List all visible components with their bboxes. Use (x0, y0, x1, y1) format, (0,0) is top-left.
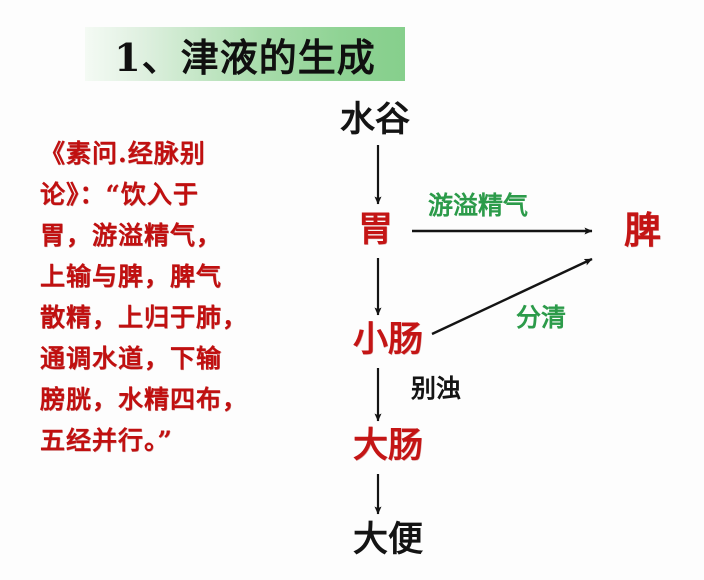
node-dabian: 大便 (353, 522, 423, 557)
quote-line: 五经并行。” (40, 420, 306, 461)
slide-canvas: 1、津液的生成 《素问.经脉别 论》：“饮入于 胃，游溢精气， 上输与脾，脾气 … (0, 0, 704, 580)
quote-line: 上输与脾，脾气 (40, 256, 306, 297)
node-dachang: 大肠 (353, 428, 423, 463)
page-title: 1、津液的生成 (85, 27, 405, 81)
quote-line: 通调水道，下输 (40, 338, 306, 379)
node-pi: 脾 (624, 212, 661, 249)
quote-line: 散精，上归于肺， (40, 297, 306, 338)
node-wei: 胃 (358, 212, 393, 247)
node-xiaochang: 小肠 (353, 322, 423, 357)
arrow-xiaochang-to-pi (432, 259, 592, 334)
node-shuigu: 水谷 (340, 102, 410, 137)
quote-line: 胃，游溢精气， (40, 215, 306, 256)
quote-line: 膀胱，水精四布， (40, 379, 306, 420)
quote-line: 《素问.经脉别 (40, 133, 306, 174)
edge-label-biezhuo: 别浊 (411, 376, 461, 401)
edge-label-fenqing: 分清 (516, 305, 566, 330)
quote-line: 论》：“饮入于 (40, 174, 306, 215)
edge-label-youyijingqi: 游溢精气 (428, 193, 528, 218)
quotation-block: 《素问.经脉别 论》：“饮入于 胃，游溢精气， 上输与脾，脾气 散精，上归于肺，… (40, 133, 306, 461)
